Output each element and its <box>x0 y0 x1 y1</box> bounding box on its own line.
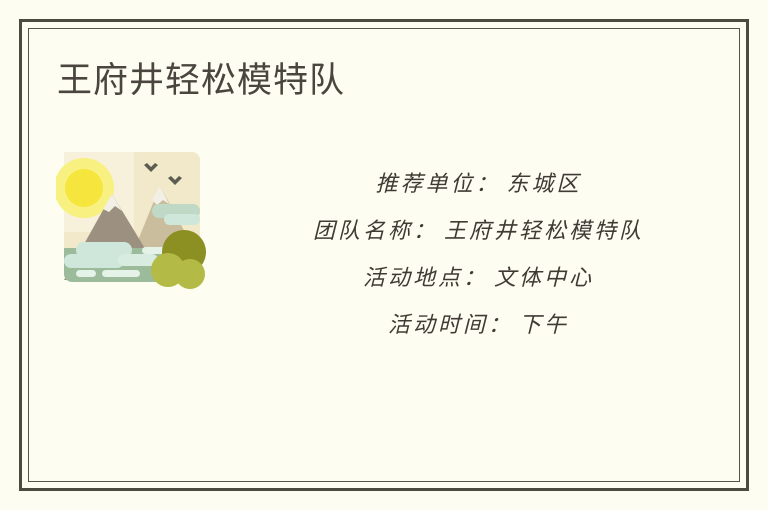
info-line-activity-location: 活动地点：文体中心 <box>226 255 731 302</box>
content-row: 推荐单位：东城区 团队名称：王府井轻松模特队 活动地点：文体中心 活动时间：下午 <box>56 148 716 348</box>
info-label-activity-location: 活动地点： <box>363 266 488 291</box>
document-page: 王府井轻松模特队 <box>0 0 768 510</box>
info-value-activity-location: 文体中心 <box>494 266 594 291</box>
mountain-landscape-icon <box>56 148 208 296</box>
info-value-activity-time: 下午 <box>519 313 569 338</box>
info-label-team-name: 团队名称： <box>313 219 438 244</box>
info-line-activity-time: 活动时间：下午 <box>226 302 731 349</box>
info-label-activity-time: 活动时间： <box>388 313 513 338</box>
info-line-recommending-unit: 推荐单位：东城区 <box>226 161 731 208</box>
info-list: 推荐单位：东城区 团队名称：王府井轻松模特队 活动地点：文体中心 活动时间：下午 <box>226 161 731 349</box>
info-value-recommending-unit: 东城区 <box>507 172 582 197</box>
landscape-thumbnail <box>56 148 208 296</box>
info-line-team-name: 团队名称：王府井轻松模特队 <box>226 208 731 255</box>
page-title: 王府井轻松模特队 <box>57 58 345 104</box>
info-label-recommending-unit: 推荐单位： <box>375 172 500 197</box>
info-value-team-name: 王府井轻松模特队 <box>444 219 644 244</box>
